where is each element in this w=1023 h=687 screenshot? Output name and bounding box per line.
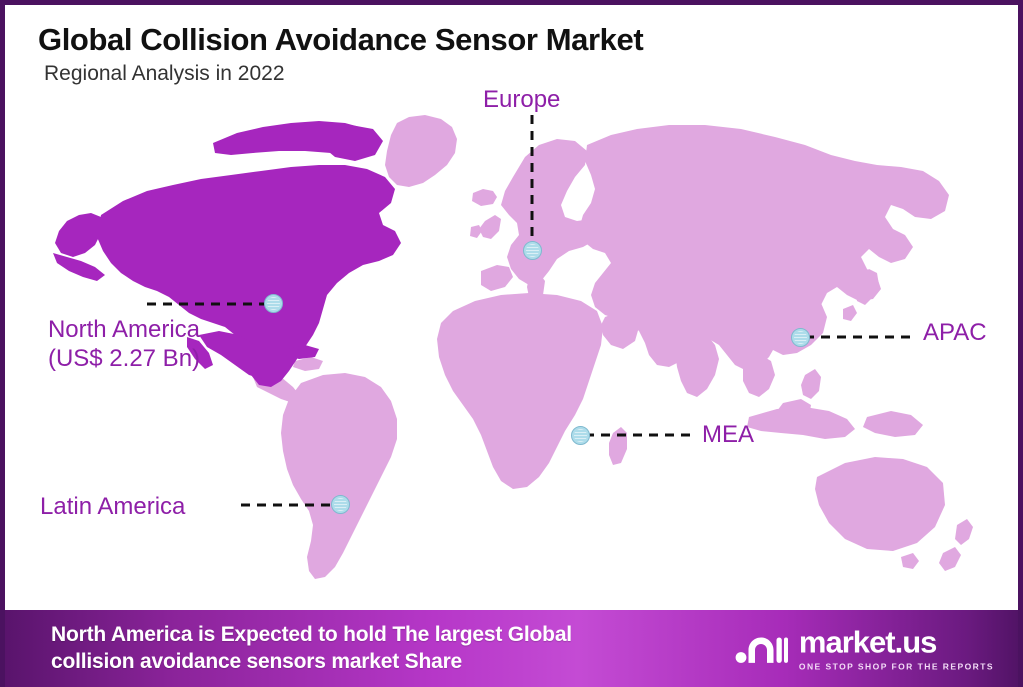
region-label-north-america-value: (US$ 2.27 Bn) xyxy=(19,344,229,373)
logo-text-wrap: market.us ONE STOP SHOP FOR THE REPORTS xyxy=(799,626,994,671)
region-label-latin-america-name: Latin America xyxy=(40,493,185,520)
region-label-latin-america: Latin America xyxy=(40,492,185,521)
logo-tagline: ONE STOP SHOP FOR THE REPORTS xyxy=(799,661,994,671)
footer-banner: North America is Expected to hold The la… xyxy=(5,610,1023,687)
banner-headline-line1: North America is Expected to hold The la… xyxy=(51,623,572,646)
marker-europe[interactable] xyxy=(523,241,542,260)
header: Global Collision Avoidance Sensor Market… xyxy=(5,5,1018,86)
region-label-europe-name: Europe xyxy=(483,86,560,113)
banner-headline-line2: collision avoidance sensors market Share xyxy=(51,649,572,676)
logo-wordmark: market.us xyxy=(799,626,936,657)
marker-north-america[interactable] xyxy=(264,294,283,313)
region-label-mea-name: MEA xyxy=(702,421,754,448)
marker-latin-america[interactable] xyxy=(331,495,350,514)
page-subtitle: Regional Analysis in 2022 xyxy=(44,62,1018,85)
marker-apac[interactable] xyxy=(791,328,810,347)
marker-mea[interactable] xyxy=(571,426,590,445)
infographic-canvas: Global Collision Avoidance Sensor Market… xyxy=(0,0,1023,687)
region-label-europe: Europe xyxy=(483,85,560,114)
region-label-mea: MEA xyxy=(702,420,754,449)
region-label-apac: APAC xyxy=(923,318,987,347)
region-label-north-america-name: North America xyxy=(48,316,200,343)
region-label-north-america: North America (US$ 2.27 Bn) xyxy=(19,315,229,374)
page-title: Global Collision Avoidance Sensor Market xyxy=(38,23,1018,56)
banner-headline: North America is Expected to hold The la… xyxy=(51,622,572,676)
market-us-logo-icon xyxy=(734,629,788,669)
brand-logo[interactable]: market.us ONE STOP SHOP FOR THE REPORTS xyxy=(734,626,994,671)
region-label-apac-name: APAC xyxy=(923,319,987,346)
